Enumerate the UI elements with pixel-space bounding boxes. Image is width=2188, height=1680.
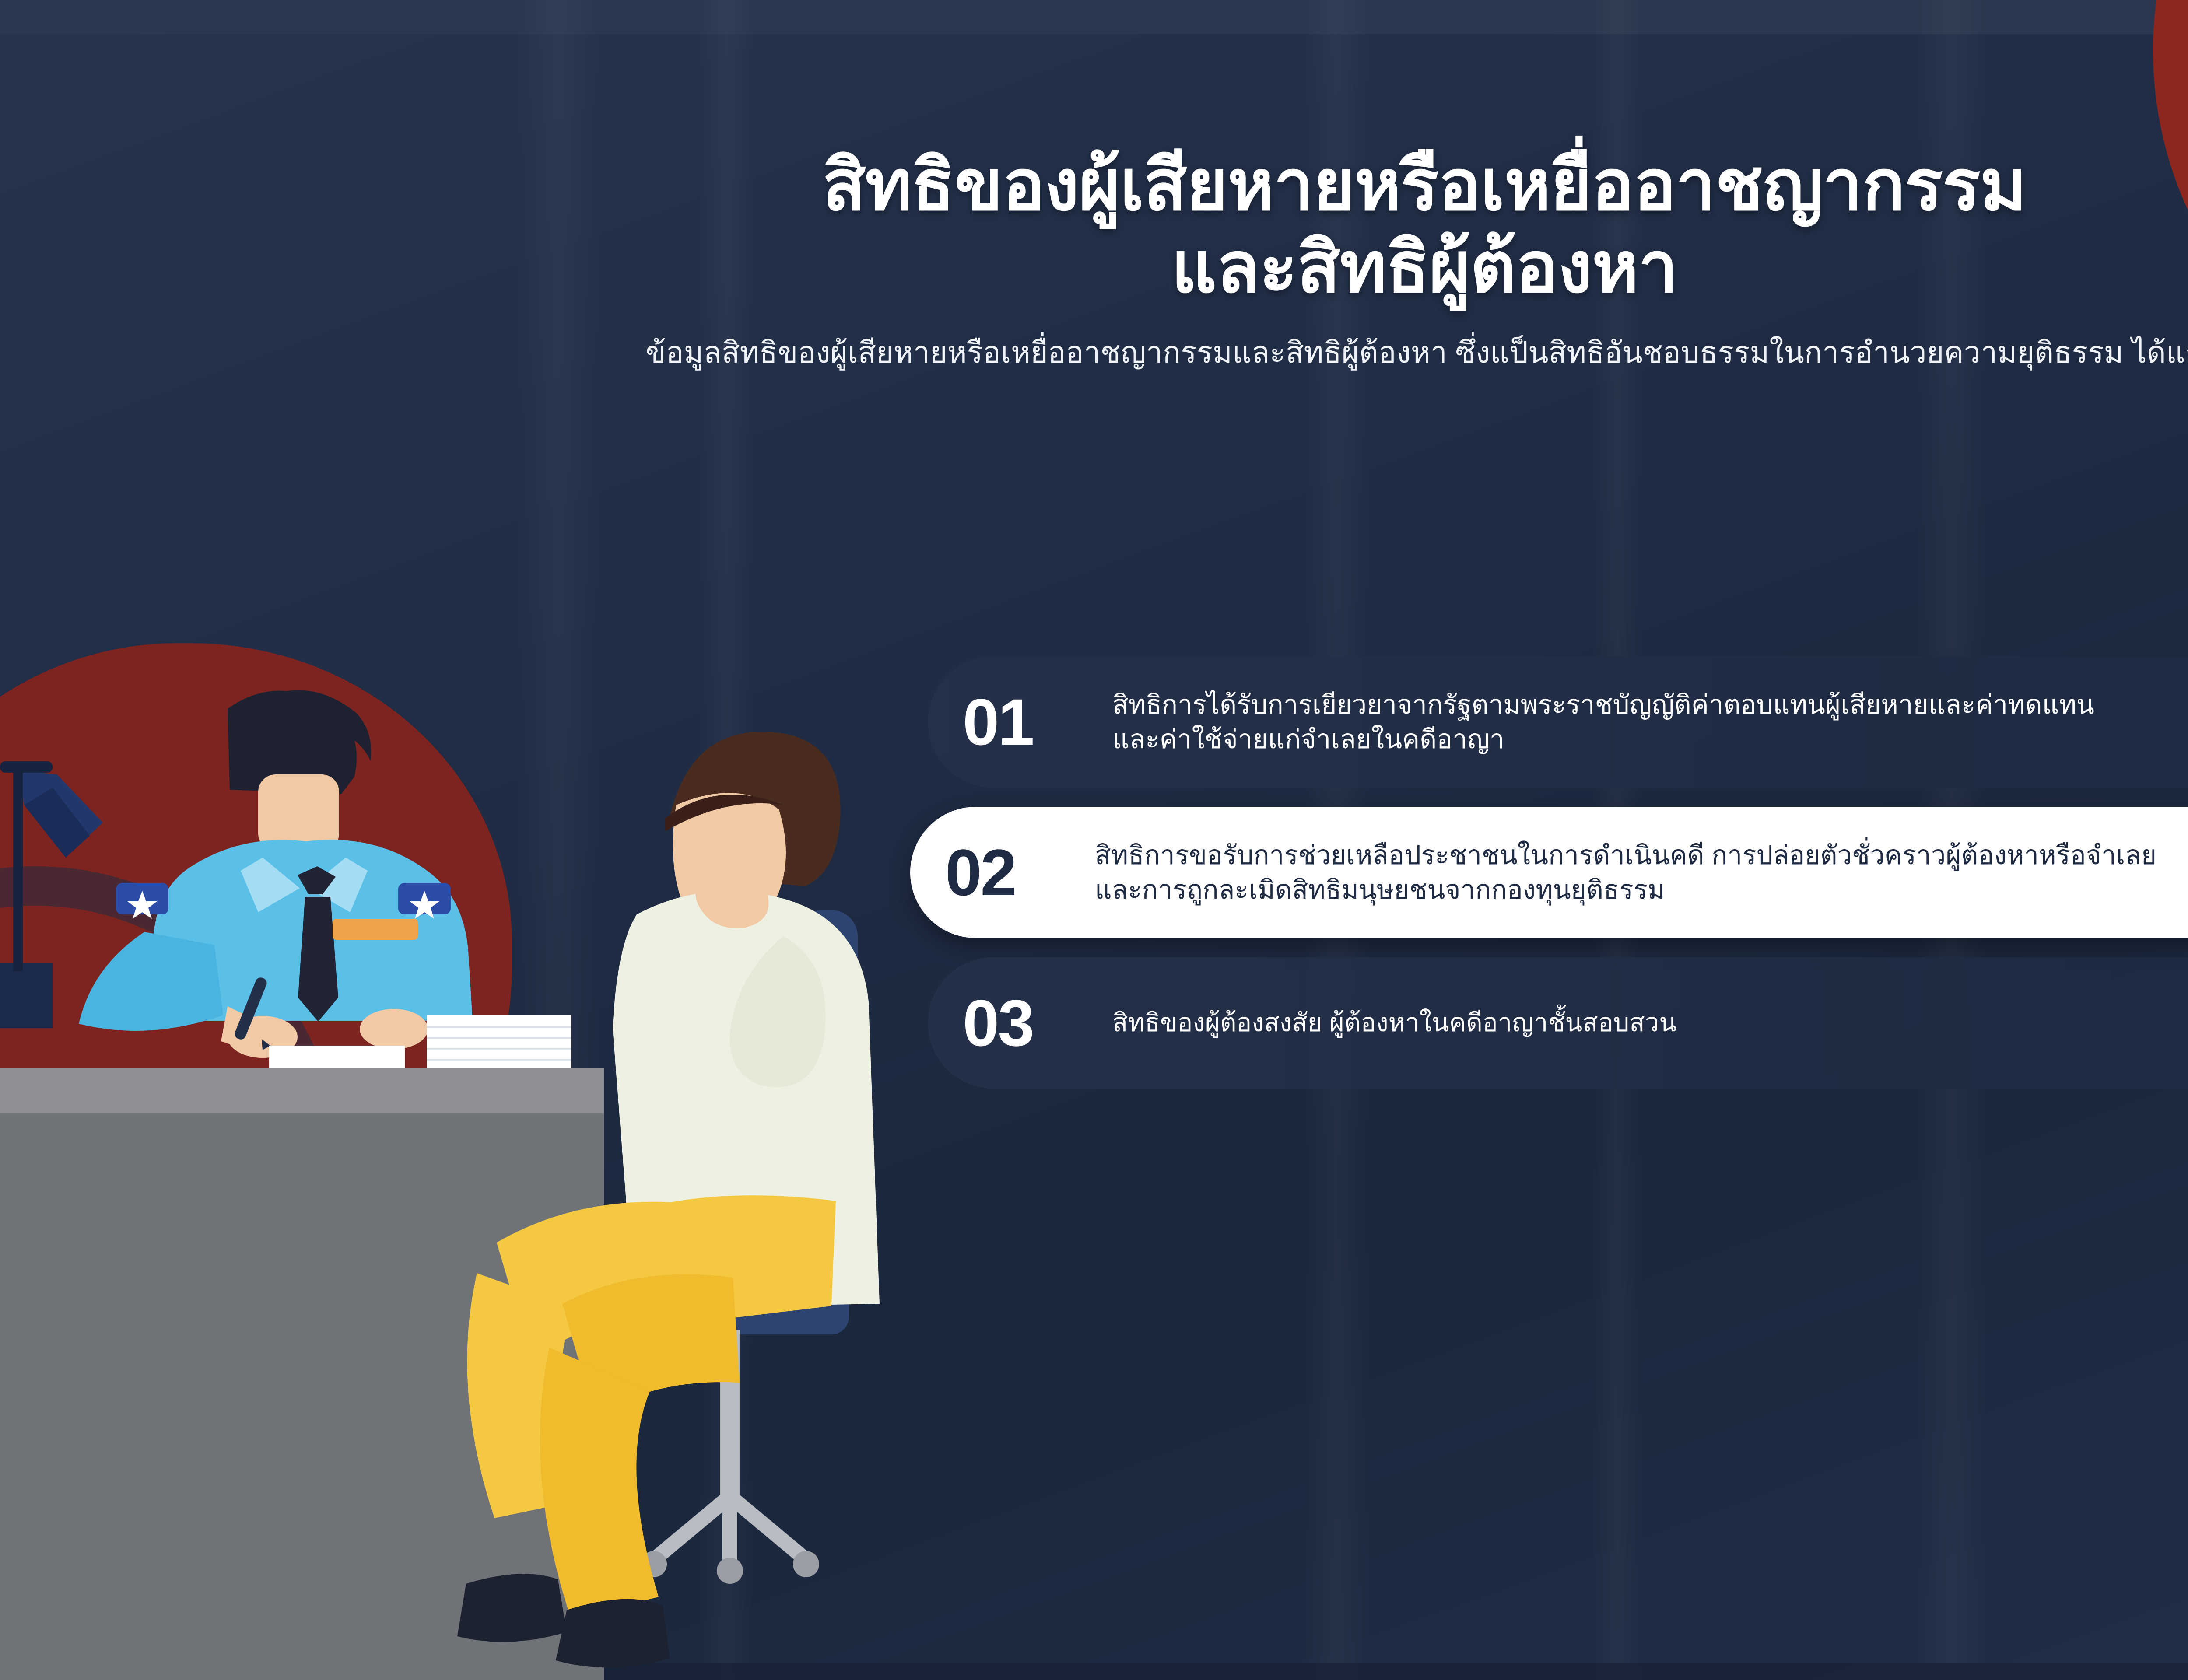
police-officer-figure: [79, 690, 571, 1070]
police-interview-illustration: [0, 630, 919, 1680]
list-item-text-line-2: และค่าใช้จ่ายแก่จำเลยในคดีอาญา: [1112, 722, 2188, 756]
list-item-text-line-2: และการถูกละเมิดสิทธิมนุษยชนจากกองทุนยุติ…: [1095, 872, 2188, 907]
list-item[interactable]: 01 สิทธิการได้รับการเยียวยาจากรัฐตามพระร…: [928, 656, 2188, 787]
list-item-text-line-1: สิทธิการขอรับการช่วยเหลือประชาชนในการดำเ…: [1095, 838, 2188, 872]
page-title: สิทธิของผู้เสียหายหรือเหยื่ออาชญากรรม แล…: [0, 144, 2188, 309]
page-subtitle: ข้อมูลสิทธิของผู้เสียหายหรือเหยื่ออาชญาก…: [0, 334, 2188, 371]
desk-lamp-icon: [0, 761, 103, 1028]
list-item[interactable]: 02 สิทธิการขอรับการช่วยเหลือประชาชนในการ…: [910, 807, 2188, 938]
title-line-1: สิทธิของผู้เสียหายหรือเหยื่ออาชญากรรม: [822, 146, 2026, 225]
list-item-text-line-1: สิทธิการได้รับการเยียวยาจากรัฐตามพระราชบ…: [1112, 687, 2188, 722]
list-item-number: 03: [963, 990, 1107, 1056]
list-item-text: สิทธิการขอรับการช่วยเหลือประชาชนในการดำเ…: [1090, 838, 2188, 907]
title-line-2: และสิทธิผู้ต้องหา: [0, 227, 2188, 309]
list-item-number: 01: [963, 689, 1107, 755]
slide-header: สิทธิของผู้เสียหายหรือเหยื่ออาชญากรรม แล…: [0, 144, 2188, 371]
slide-canvas: สิทธิของผู้เสียหายหรือเหยื่ออาชญากรรม แล…: [0, 0, 2188, 1680]
document-stack: [427, 1015, 571, 1070]
top-band-decoration: [0, 0, 2188, 34]
list-item[interactable]: 03 สิทธิของผู้ต้องสงสัย ผู้ต้องหาในคดีอา…: [928, 957, 2188, 1088]
list-item-number: 02: [945, 840, 1090, 905]
list-item-text: สิทธิการได้รับการเยียวยาจากรัฐตามพระราชบ…: [1107, 687, 2188, 756]
rights-list: 01 สิทธิการได้รับการเยียวยาจากรัฐตามพระร…: [928, 656, 2188, 1088]
list-item-text-line-1: สิทธิของผู้ต้องสงสัย ผู้ต้องหาในคดีอาญาช…: [1112, 1006, 2188, 1040]
list-item-text: สิทธิของผู้ต้องสงสัย ผู้ต้องหาในคดีอาญาช…: [1107, 1006, 2188, 1040]
